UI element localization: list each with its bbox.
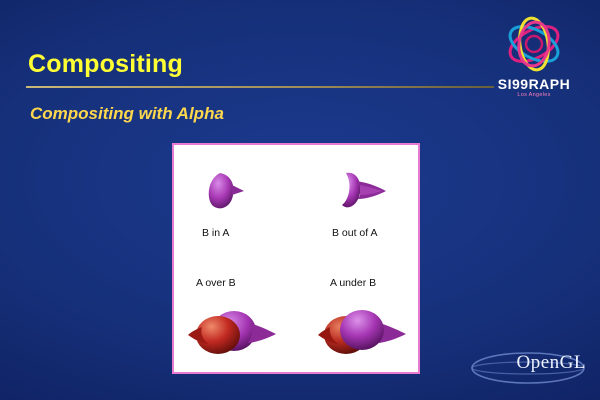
figure-a-over-b	[188, 303, 280, 365]
figure-b-out-of-a	[326, 163, 396, 221]
siggraph-rings-icon	[480, 14, 588, 76]
siggraph-logo-subtext: Los Angeles	[480, 92, 588, 98]
label-a-under-b: A under B	[330, 277, 376, 289]
content-panel: B in A B out of A A over B A under B	[172, 143, 420, 374]
figure-a-under-b	[318, 303, 410, 365]
siggraph-logo-text: SI99RAPH	[480, 76, 588, 92]
slide-subtitle: Compositing with Alpha	[30, 104, 224, 124]
siggraph-logo: SI99RAPH Los Angeles	[480, 14, 588, 106]
siggraph-logo-wordmark: SI99RAPH	[498, 76, 570, 92]
page-title: Compositing	[28, 50, 183, 79]
slide: Compositing Compositing with Alpha SI99R…	[0, 0, 600, 400]
title-divider	[26, 86, 494, 88]
label-b-out-of-a: B out of A	[332, 227, 378, 239]
label-b-in-a: B in A	[202, 227, 229, 239]
label-a-over-b: A over B	[196, 277, 236, 289]
figure-b-in-a	[196, 165, 252, 221]
opengl-logo: OpenGL	[466, 350, 586, 386]
opengl-logo-text: OpenGL	[466, 352, 586, 374]
